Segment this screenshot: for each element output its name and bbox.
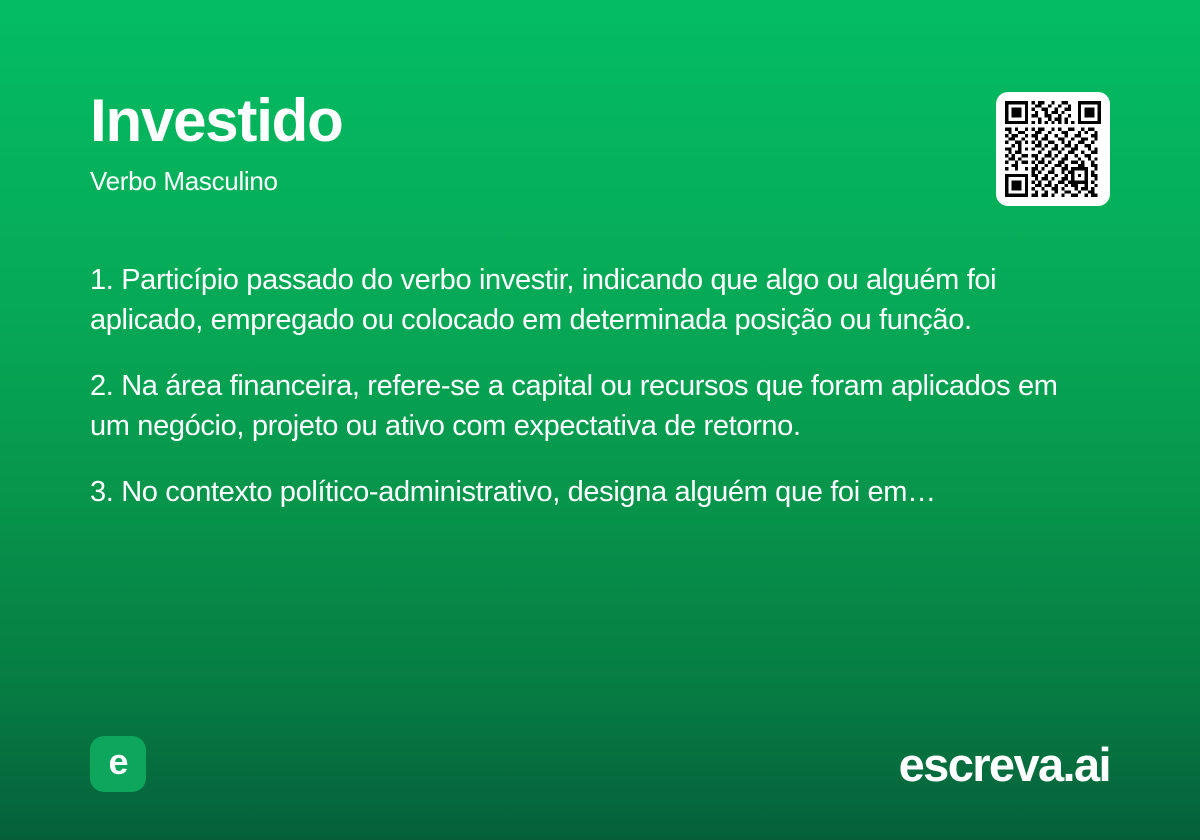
definition-card: Investido Verbo Masculino bbox=[0, 0, 1200, 840]
definition-item: 1. Particípio passado do verbo investir,… bbox=[90, 260, 1100, 340]
part-of-speech-label: Verbo Masculino bbox=[90, 167, 343, 196]
page-title: Investido bbox=[90, 90, 343, 151]
qr-code[interactable] bbox=[996, 92, 1110, 206]
brand-wordmark: escreva.ai bbox=[899, 741, 1110, 788]
headings-group: Investido Verbo Masculino bbox=[90, 88, 343, 196]
definitions-list: 1. Particípio passado do verbo investir,… bbox=[90, 260, 1100, 512]
definition-item: 3. No contexto político-administrativo, … bbox=[90, 472, 1100, 512]
card-header: Investido Verbo Masculino bbox=[90, 88, 1110, 206]
card-footer: e escreva.ai bbox=[90, 736, 1110, 792]
brand-logo-icon[interactable]: e bbox=[90, 736, 146, 792]
definition-item: 2. Na área financeira, refere-se a capit… bbox=[90, 366, 1100, 446]
